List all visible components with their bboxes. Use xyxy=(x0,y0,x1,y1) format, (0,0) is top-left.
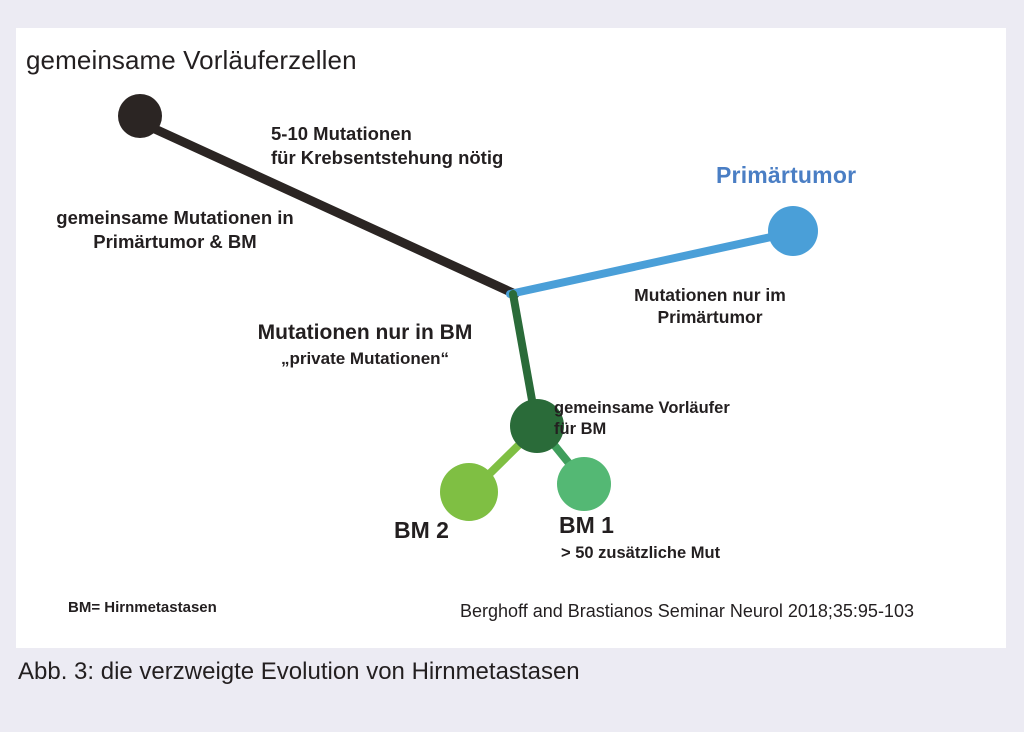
label-bm-only-line1: Mutationen nur in BM xyxy=(230,320,500,347)
label-mutations-count-line1: 5-10 Mutationen xyxy=(271,122,503,146)
label-bm2: BM 2 xyxy=(394,516,449,545)
label-primary-tumor: Primärtumor xyxy=(716,161,856,190)
node-bm1 xyxy=(557,457,611,511)
label-mutations-count: 5-10 Mutationen für Krebsentstehung nöti… xyxy=(271,122,503,169)
label-shared-mutations-line2: Primärtumor & BM xyxy=(30,230,320,254)
label-bm-only-mutations: Mutationen nur in BM „private Mutationen… xyxy=(230,320,500,370)
node-primary-tumor xyxy=(768,206,818,256)
page-title: gemeinsame Vorläuferzellen xyxy=(26,44,357,77)
label-shared-mutations: gemeinsame Mutationen in Primärtumor & B… xyxy=(30,206,320,253)
label-shared-precursor-line1: gemeinsame Vorläufer xyxy=(554,398,730,419)
figure-card: gemeinsame Vorläuferzellen 5-10 Mutation… xyxy=(16,28,1006,648)
label-bm1: BM 1 xyxy=(559,511,614,540)
legend-bm-abbreviation: BM= Hirnmetastasen xyxy=(68,598,217,617)
label-mutations-count-line2: für Krebsentstehung nötig xyxy=(271,146,503,170)
label-bm-only-line2: „private Mutationen“ xyxy=(230,348,500,370)
citation-text: Berghoff and Brastianos Seminar Neurol 2… xyxy=(460,600,914,623)
figure-caption: Abb. 3: die verzweigte Evolution von Hir… xyxy=(18,658,580,686)
label-primary-only-mutations: Mutationen nur im Primärtumor xyxy=(610,284,810,329)
label-shared-mutations-line1: gemeinsame Mutationen in xyxy=(30,206,320,230)
label-primary-only-line2: Primärtumor xyxy=(610,306,810,328)
node-precursor xyxy=(118,94,162,138)
evolution-tree-diagram xyxy=(16,28,1006,648)
label-shared-precursor-line2: für BM xyxy=(554,419,730,440)
label-shared-precursor-bm: gemeinsame Vorläufer für BM xyxy=(554,398,730,440)
label-bm1-sublabel: > 50 zusätzliche Mut xyxy=(561,543,720,564)
label-primary-only-line1: Mutationen nur im xyxy=(610,284,810,306)
node-bm2 xyxy=(440,463,498,521)
